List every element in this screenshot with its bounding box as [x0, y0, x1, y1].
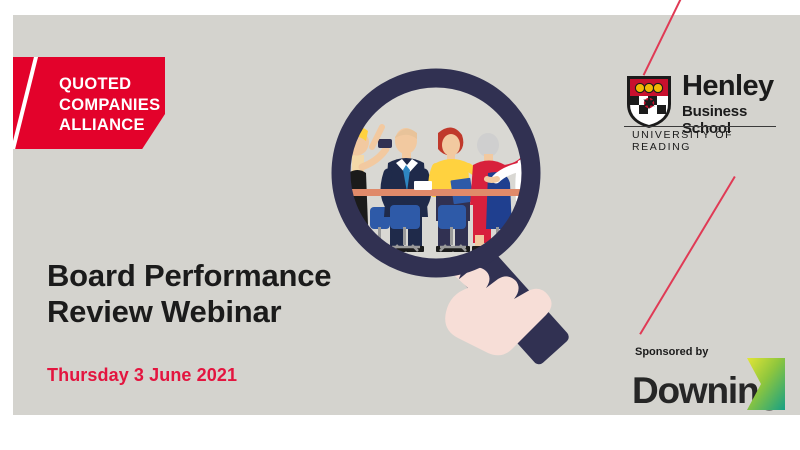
poster-canvas: QUOTED COMPANIES ALLIANCE: [0, 0, 800, 450]
henley-divider: [624, 126, 776, 127]
quoted-companies-alliance-logo: QUOTED COMPANIES ALLIANCE: [13, 57, 165, 149]
sponsored-by-label: Sponsored by: [635, 346, 708, 358]
cup-white: [546, 181, 553, 190]
page-title: Board Performance Review Webinar: [47, 258, 331, 330]
person-green-top: [548, 124, 590, 252]
qca-slash-decoration: [13, 57, 41, 149]
henley-university-line: UNIVERSITY OF READING: [632, 129, 776, 153]
henley-business-school-logo: Henley Business School UNIVERSITY OF REA…: [624, 74, 776, 144]
downing-logo-mark: [745, 358, 787, 410]
event-date: Thursday 3 June 2021: [47, 365, 237, 386]
henley-wordmark: Henley: [682, 72, 774, 101]
henley-shield-icon: [624, 74, 674, 130]
paper-sheet: [414, 181, 432, 190]
magnifying-glass-illustration: [318, 55, 590, 385]
qca-logo-text: QUOTED COMPANIES ALLIANCE: [59, 74, 160, 136]
